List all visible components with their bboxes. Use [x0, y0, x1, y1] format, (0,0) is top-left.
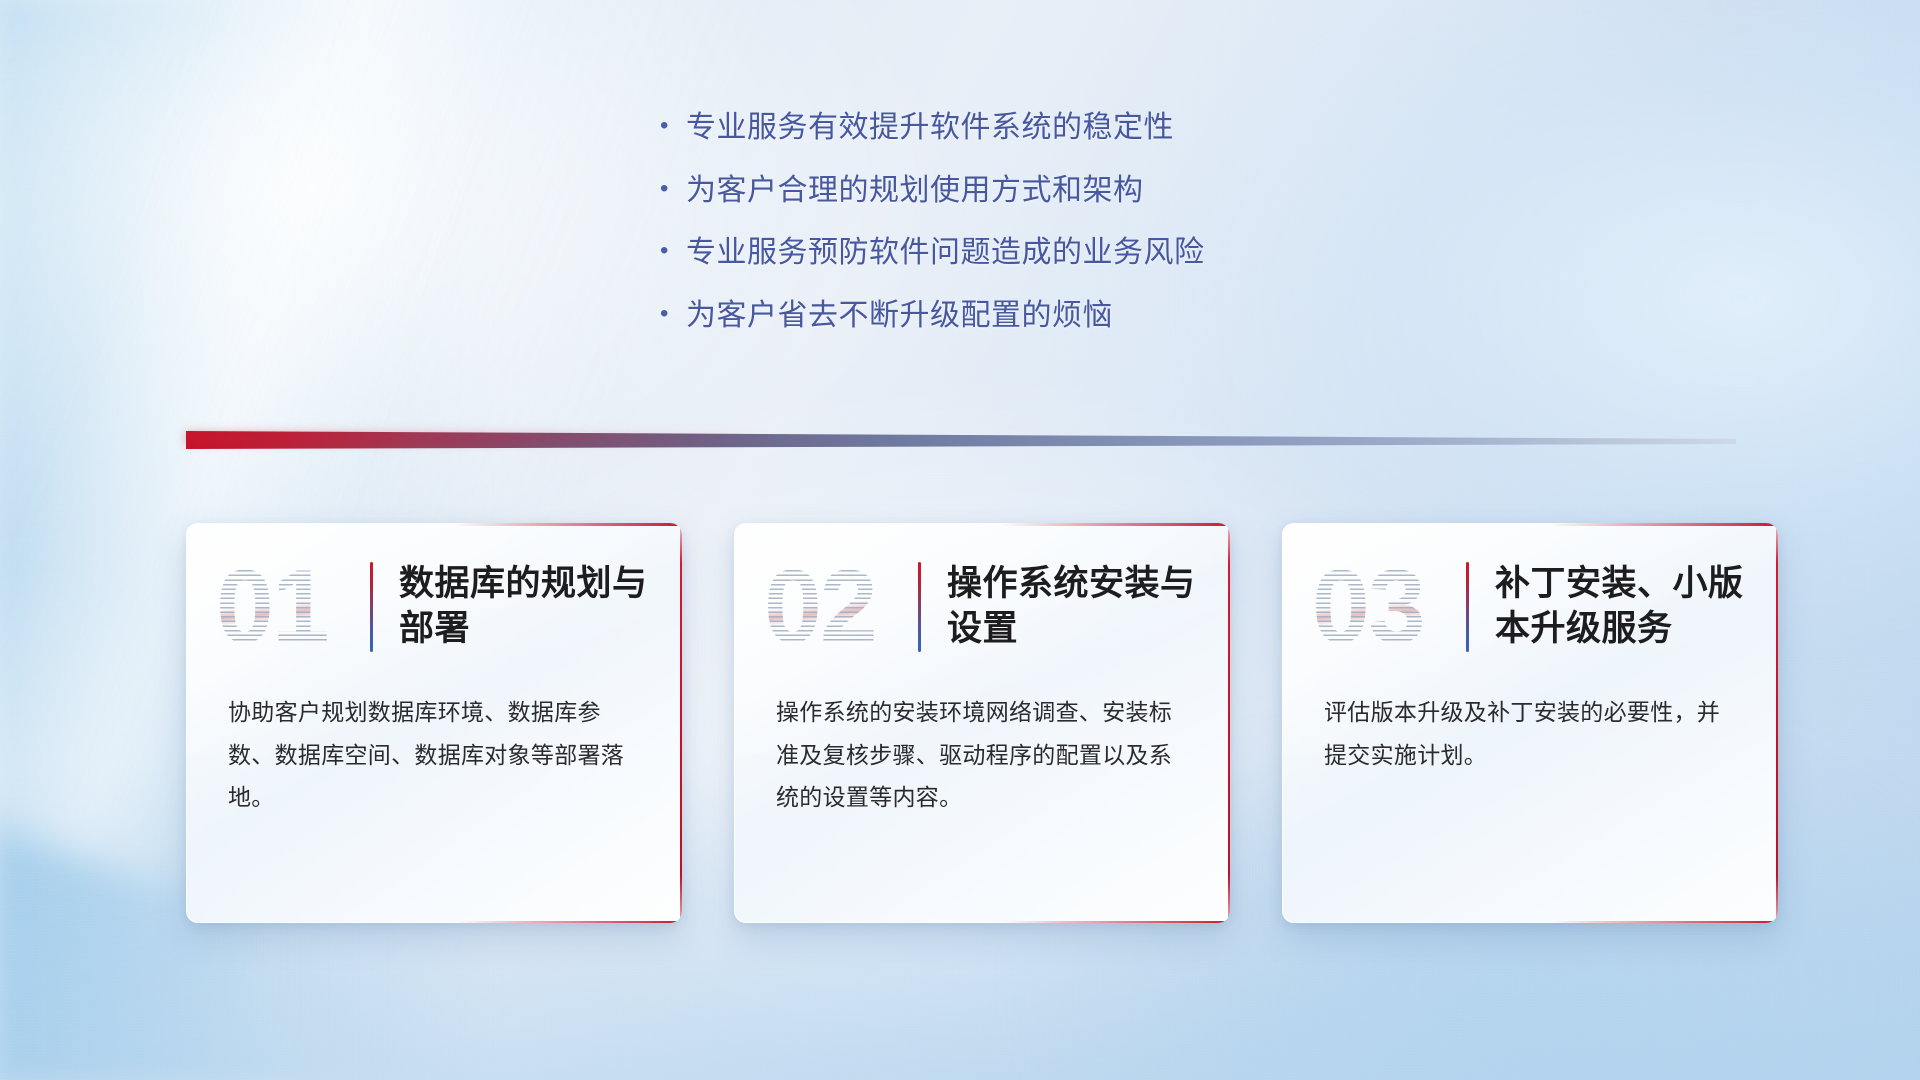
bullet-text: 专业服务预防软件问题造成的业务风险: [686, 237, 1205, 269]
card-body-text: 操作系统的安装环境网络调查、安装标准及复核步骤、驱动程序的配置以及系统的设置等内…: [734, 691, 1230, 819]
card-number-wrap: 03: [1312, 548, 1462, 666]
list-item: • 专业服务有效提升软件系统的稳定性: [660, 112, 1420, 144]
card-divider-bar-icon: [918, 562, 921, 652]
bullet-marker-icon: •: [660, 239, 686, 263]
card-red-accent-bottom: [1002, 921, 1230, 924]
card-header: 02 操作系统安装与设置: [734, 523, 1230, 691]
card-number-wrap: 02: [764, 548, 914, 666]
card-number: 03: [1312, 555, 1424, 659]
list-item: • 为客户省去不断升级配置的烦恼: [660, 300, 1420, 332]
bullet-marker-icon: •: [660, 177, 686, 201]
card-header: 03 补丁安装、小版本升级服务: [1282, 523, 1778, 691]
card-red-accent-bottom: [1550, 921, 1778, 924]
card-01[interactable]: 01 数据库的规划与部署 协助客户规划数据库环境、数据库参数、数据库空间、数据库…: [186, 523, 682, 923]
list-item: • 为客户合理的规划使用方式和架构: [660, 175, 1420, 207]
card-divider-bar-icon: [370, 562, 373, 652]
card-body-text: 协助客户规划数据库环境、数据库参数、数据库空间、数据库对象等部署落地。: [186, 691, 682, 819]
card-title: 操作系统安装与设置: [947, 562, 1196, 652]
bullet-text: 为客户合理的规划使用方式和架构: [686, 175, 1144, 207]
card-divider-bar-icon: [1466, 562, 1469, 652]
list-item: • 专业服务预防软件问题造成的业务风险: [660, 237, 1420, 269]
card-title: 数据库的规划与部署: [399, 562, 648, 652]
divider-red-glow: [186, 433, 775, 443]
card-row: 01 数据库的规划与部署 协助客户规划数据库环境、数据库参数、数据库空间、数据库…: [186, 523, 1778, 923]
card-number-wrap: 01: [216, 548, 366, 666]
card-number: 01: [216, 555, 328, 659]
card-red-accent-bottom: [454, 921, 682, 924]
bullet-text: 为客户省去不断升级配置的烦恼: [686, 300, 1113, 332]
card-header: 01 数据库的规划与部署: [186, 523, 682, 691]
section-divider: [186, 431, 1736, 449]
card-02[interactable]: 02 操作系统安装与设置 操作系统的安装环境网络调查、安装标准及复核步骤、驱动程…: [734, 523, 1230, 923]
card-03[interactable]: 03 补丁安装、小版本升级服务 评估版本升级及补丁安装的必要性，并提交实施计划。: [1282, 523, 1778, 923]
bullet-list: • 专业服务有效提升软件系统的稳定性 • 为客户合理的规划使用方式和架构 • 专…: [660, 112, 1420, 362]
bullet-marker-icon: •: [660, 302, 686, 326]
bullet-marker-icon: •: [660, 114, 686, 138]
card-number: 02: [764, 555, 876, 659]
card-title: 补丁安装、小版本升级服务: [1495, 562, 1744, 652]
card-body-text: 评估版本升级及补丁安装的必要性，并提交实施计划。: [1282, 691, 1778, 776]
bullet-text: 专业服务有效提升软件系统的稳定性: [686, 112, 1174, 144]
